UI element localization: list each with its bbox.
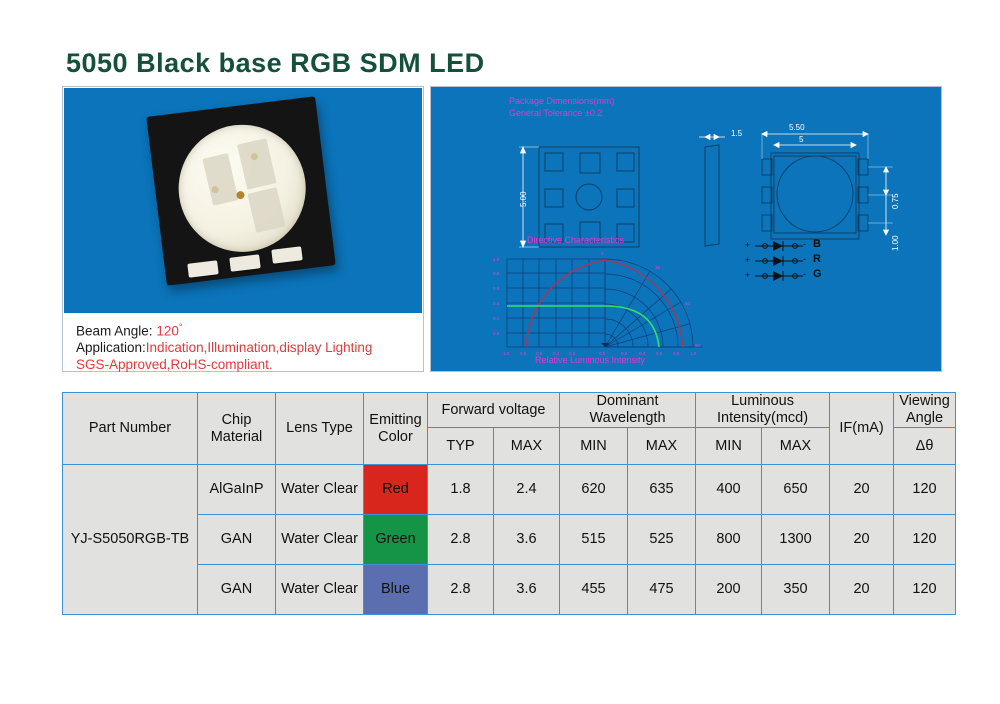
application-value: Indication,Illumination,display Lighting — [146, 340, 373, 355]
header-dominant-wavelength-line1: Dominant — [596, 393, 658, 409]
cell-fv-max: 2.4 — [494, 465, 560, 515]
led-die-3 — [247, 187, 285, 233]
cell-fv-max: 3.6 — [494, 565, 560, 615]
beam-angle-label: Beam Angle: — [76, 324, 156, 339]
cell-emitting-color: Green — [364, 515, 428, 565]
minus-sign-r: - — [803, 254, 806, 264]
application-line: Application:Indication,Illumination,disp… — [76, 340, 422, 357]
compliance-line: SGS-Approved,RoHS-compliant. — [76, 357, 422, 374]
cell-li-min: 200 — [696, 565, 762, 615]
cell-chip-material: GAN — [198, 565, 276, 615]
chart-title: Directive Characteristics — [527, 235, 624, 245]
header-viewing-angle: Viewing Angle — [894, 393, 956, 428]
cell-dw-min: 455 — [560, 565, 628, 615]
cell-dw-max: 475 — [628, 565, 696, 615]
cell-emitting-color: Blue — [364, 565, 428, 615]
minus-sign-b: - — [803, 239, 806, 249]
wire-bond-3 — [236, 191, 245, 200]
cell-li-max: 350 — [762, 565, 830, 615]
cell-lens-type: Water Clear — [276, 465, 364, 515]
diode-circuit-symbols — [743, 237, 873, 297]
cell-dw-min: 620 — [560, 465, 628, 515]
header-chip-material: Chip Material — [198, 393, 276, 465]
plus-sign-g: + — [745, 270, 750, 280]
svg-text:0.8: 0.8 — [520, 351, 527, 356]
directive-characteristics-chart: 1.0 0.8 0.6 0.4 0.2 0.0 1.0 0.8 0.6 0.4 … — [493, 247, 723, 362]
cell-chip-material: GAN — [198, 515, 276, 565]
subheader-viewing-angle-symbol: Δθ — [894, 428, 956, 465]
cell-part-number: YJ-S5050RGB-TB — [63, 465, 198, 615]
subheader-li-max: MAX — [762, 428, 830, 465]
led-die-2 — [237, 138, 277, 190]
header-emitting-color: Emitting Color — [364, 393, 428, 465]
beam-angle-unit: ° — [179, 322, 183, 332]
cell-if-ma: 20 — [830, 515, 894, 565]
dim-top-view-height: 5.00 — [519, 191, 528, 207]
cell-if-ma: 20 — [830, 465, 894, 515]
svg-text:0.8: 0.8 — [673, 351, 680, 356]
dim-pad-offset: 1.00 — [891, 235, 900, 251]
header-if-ma: IF(mA) — [830, 393, 894, 465]
product-photo-panel: Beam Angle: 120° Application:Indication,… — [62, 86, 424, 372]
svg-text:90: 90 — [695, 343, 701, 348]
svg-text:0.6: 0.6 — [493, 286, 500, 291]
svg-text:0.2: 0.2 — [493, 316, 500, 321]
dim-bottom-width-outer: 5.50 — [789, 123, 805, 132]
page-title: 5050 Black base RGB SDM LED — [66, 48, 485, 79]
cell-if-ma: 20 — [830, 565, 894, 615]
drawing-subheading: General Tolerance ±0.2 — [509, 108, 602, 118]
diode-label-g: G — [813, 268, 822, 280]
cell-dw-max: 525 — [628, 515, 696, 565]
plus-sign-r: + — [745, 255, 750, 265]
subheader-dw-min: MIN — [560, 428, 628, 465]
dim-bottom-width-inner: 5 — [799, 135, 803, 144]
table-header-row-1: Part Number Chip Material Lens Type Emit… — [63, 393, 956, 428]
header-chip-material-line2: Material — [211, 429, 263, 445]
header-luminous-intensity: Luminous Intensity(mcd) — [696, 393, 830, 428]
photo-caption: Beam Angle: 120° Application:Indication,… — [64, 315, 422, 370]
dim-pad-pitch: 0.75 — [891, 193, 900, 209]
cell-li-min: 400 — [696, 465, 762, 515]
package-drawing-panel: Package Dimensions(mm) General Tolerance… — [430, 86, 942, 372]
diode-label-r: R — [813, 253, 821, 265]
chart-xlabel: Relative Luminous Intensity — [535, 355, 645, 365]
header-emitting-color-line2: Color — [378, 429, 413, 445]
header-forward-voltage: Forward voltage — [428, 393, 560, 428]
cell-chip-material: AlGaInP — [198, 465, 276, 515]
svg-text:60: 60 — [685, 301, 691, 306]
cell-dw-max: 635 — [628, 465, 696, 515]
led-photo-image — [64, 88, 422, 313]
subheader-li-min: MIN — [696, 428, 762, 465]
cell-li-max: 650 — [762, 465, 830, 515]
svg-text:0.0: 0.0 — [493, 331, 500, 336]
cell-lens-type: Water Clear — [276, 515, 364, 565]
subheader-fv-typ: TYP — [428, 428, 494, 465]
beam-angle-line: Beam Angle: 120° — [76, 319, 422, 340]
table-row: YJ-S5050RGB-TB AlGaInP Water Clear Red 1… — [63, 465, 956, 515]
cell-fv-typ: 1.8 — [428, 465, 494, 515]
header-dominant-wavelength: Dominant Wavelength — [560, 393, 696, 428]
application-label: Application: — [76, 340, 146, 355]
cell-fv-typ: 2.8 — [428, 515, 494, 565]
svg-text:0.8: 0.8 — [493, 271, 500, 276]
diode-label-b: B — [813, 238, 821, 250]
header-chip-material-line1: Chip — [222, 412, 252, 428]
header-luminous-intensity-line2: Intensity(mcd) — [717, 410, 808, 426]
cell-lens-type: Water Clear — [276, 565, 364, 615]
cell-viewing-angle: 120 — [894, 565, 956, 615]
svg-text:30: 30 — [655, 265, 661, 270]
cell-fv-typ: 2.8 — [428, 565, 494, 615]
cell-li-max: 1300 — [762, 515, 830, 565]
header-emitting-color-line1: Emitting — [369, 412, 421, 428]
cell-fv-max: 3.6 — [494, 515, 560, 565]
led-die-1 — [202, 153, 238, 206]
beam-angle-value: 120 — [156, 324, 179, 339]
drawing-heading: Package Dimensions(mm) — [509, 96, 615, 106]
svg-text:0.6: 0.6 — [656, 351, 663, 356]
svg-text:1.0: 1.0 — [493, 257, 500, 262]
header-dominant-wavelength-line2: Wavelength — [589, 410, 665, 426]
cell-li-min: 800 — [696, 515, 762, 565]
header-viewing-angle-line2: Angle — [906, 410, 943, 426]
led-phosphor-dome — [171, 118, 313, 260]
header-luminous-intensity-line1: Luminous — [731, 393, 794, 409]
svg-text:1.0: 1.0 — [690, 351, 697, 356]
cell-emitting-color: Red — [364, 465, 428, 515]
svg-text:0.4: 0.4 — [493, 301, 500, 306]
header-viewing-angle-line1: Viewing — [899, 393, 950, 409]
cell-viewing-angle: 120 — [894, 465, 956, 515]
svg-text:1.0: 1.0 — [503, 351, 510, 356]
cell-dw-min: 515 — [560, 515, 628, 565]
plus-sign-b: + — [745, 240, 750, 250]
minus-sign-g: - — [803, 269, 806, 279]
header-part-number: Part Number — [63, 393, 198, 465]
led-specification-table: Part Number Chip Material Lens Type Emit… — [62, 392, 956, 615]
svg-text:0: 0 — [601, 251, 604, 256]
subheader-dw-max: MAX — [628, 428, 696, 465]
subheader-fv-max: MAX — [494, 428, 560, 465]
header-lens-type: Lens Type — [276, 393, 364, 465]
cell-viewing-angle: 120 — [894, 515, 956, 565]
